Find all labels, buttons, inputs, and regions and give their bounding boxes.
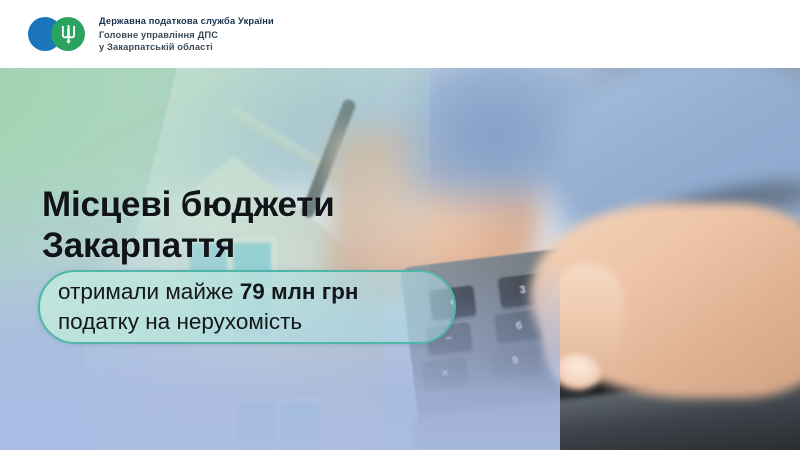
callout-line-2: податку на нерухомість xyxy=(58,307,436,337)
callout-prefix: отримали майже xyxy=(58,279,240,304)
org-name-line-2: Головне управління ДПС xyxy=(99,30,274,42)
hero-headline: Місцеві бюджети Закарпаття xyxy=(42,184,335,266)
org-name-line-1: Державна податкова служба України xyxy=(99,15,274,27)
amount-callout: отримали майже 79 млн грн податку на нер… xyxy=(38,270,456,344)
dps-logo[interactable] xyxy=(28,15,88,53)
ukraine-trident-icon xyxy=(51,17,85,51)
callout-amount: 79 млн грн xyxy=(240,279,359,304)
hero-photo: + − × 3 6 9 2 5 8 0 1 4 7 ON CE ÷ xyxy=(0,68,800,450)
org-name-line-3: у Закарпатській області xyxy=(99,42,274,54)
org-name-block: Державна податкова служба України Головн… xyxy=(99,15,274,53)
banner: Державна податкова служба України Головн… xyxy=(0,0,800,450)
hero-copy: Місцеві бюджети Закарпаття отримали майж… xyxy=(0,68,800,450)
callout-line-1: отримали майже 79 млн грн xyxy=(58,277,436,307)
site-header: Державна податкова служба України Головн… xyxy=(0,0,800,68)
